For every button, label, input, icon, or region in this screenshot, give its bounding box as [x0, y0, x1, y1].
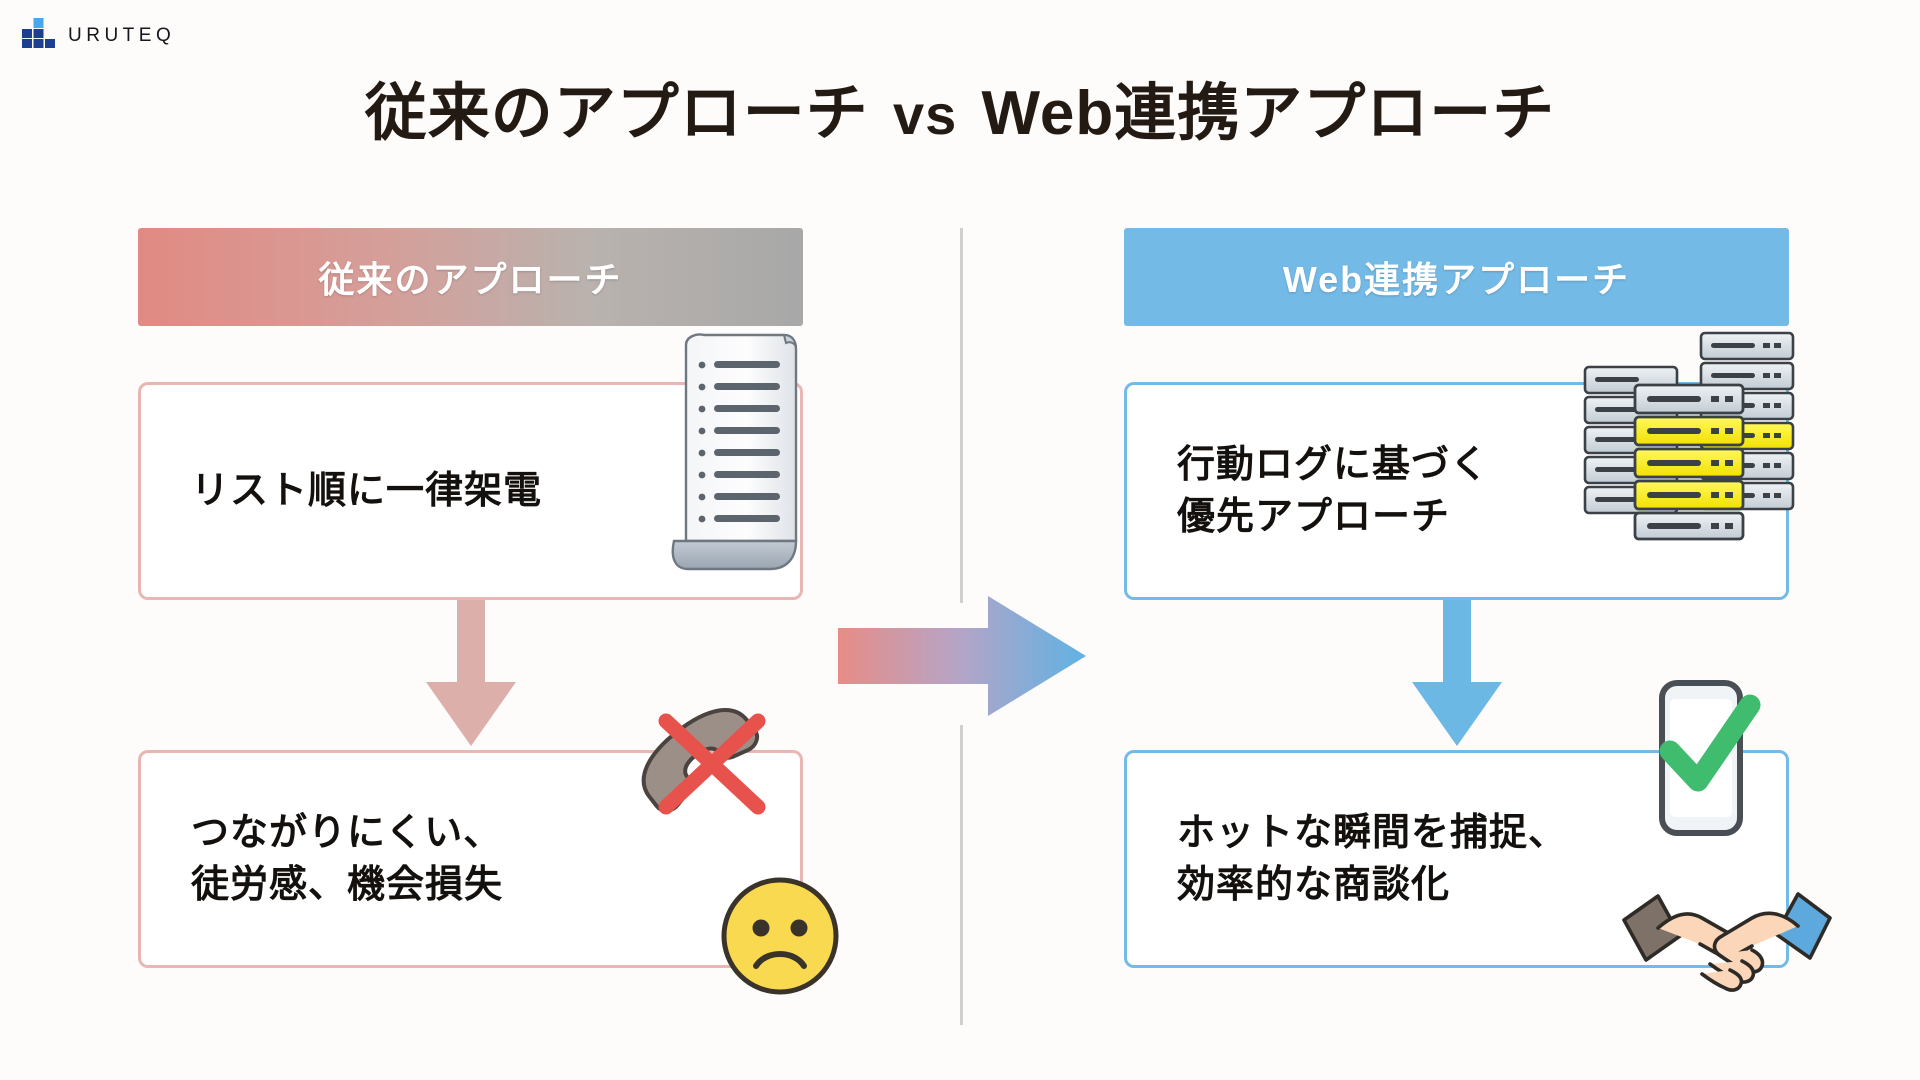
page-title: 従来のアプローチ vs Web連携アプローチ: [0, 62, 1920, 152]
web-card-1: 行動ログに基づく 優先アプローチ: [1124, 382, 1789, 600]
page-title-separator: vs: [887, 83, 963, 146]
legacy-column-header-label: 従来のアプローチ: [318, 251, 622, 303]
arrow-down-icon: [1408, 600, 1506, 750]
sad-face-icon: [718, 874, 842, 1003]
legacy-card-2: つながりにくい、 徒労感、機会損失: [138, 750, 803, 968]
legacy-approach-column: 従来のアプローチ リスト順に一律架電: [138, 228, 803, 968]
page-title-right: Web連携アプローチ: [982, 79, 1556, 148]
page-title-left: 従来のアプローチ: [365, 79, 869, 148]
scroll-list-icon: [658, 329, 818, 584]
web-column-header: Web連携アプローチ: [1124, 228, 1789, 326]
handshake-icon: [1622, 874, 1832, 1009]
server-rack-icon: [1583, 327, 1798, 547]
arrow-right-gradient-icon: [838, 596, 1086, 716]
transformation-arrow: [838, 596, 1086, 716]
legacy-column-header: 従来のアプローチ: [138, 228, 803, 326]
web-card-2: ホットな瞬間を捕捉、 効率的な商談化: [1124, 750, 1789, 968]
center-divider-lower: [960, 725, 963, 1025]
web-flow-arrow: [1124, 600, 1789, 750]
legacy-card-2-text: つながりにくい、 徒労感、機会損失: [191, 807, 503, 912]
arrow-down-icon: [422, 600, 520, 750]
legacy-flow-arrow: [138, 600, 803, 750]
bar-blocks-logo-icon: [22, 18, 56, 53]
center-divider-upper: [960, 228, 963, 603]
web-column-header-label: Web連携アプローチ: [1283, 251, 1630, 303]
brand-name: URUTEQ: [68, 26, 175, 45]
web-approach-column: Web連携アプローチ 行動ログに基づく 優先アプローチ: [1124, 228, 1789, 968]
legacy-card-1-text: リスト順に一律架電: [191, 465, 542, 517]
brand-logo: URUTEQ: [22, 18, 175, 53]
web-card-2-text: ホットな瞬間を捕捉、 効率的な商談化: [1177, 807, 1567, 912]
web-card-1-text: 行動ログに基づく 優先アプローチ: [1177, 439, 1489, 544]
legacy-card-1: リスト順に一律架電: [138, 382, 803, 600]
